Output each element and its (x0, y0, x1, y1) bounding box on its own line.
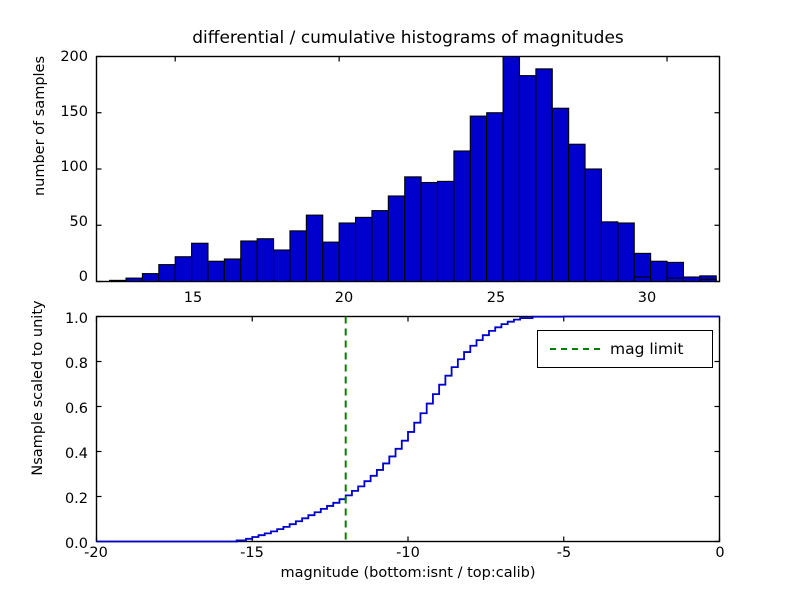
mag-limit-line-icon (550, 348, 600, 350)
histogram-bar (126, 278, 142, 281)
histogram-bar (487, 113, 503, 282)
histogram-bar (700, 279, 716, 281)
histogram-bar (618, 223, 634, 282)
histogram-bar (585, 169, 601, 282)
histogram-bar (388, 196, 404, 282)
histogram-bar (290, 231, 306, 282)
histogram-bar (421, 183, 437, 282)
histogram-bar (339, 223, 355, 282)
histogram-bar (405, 177, 421, 282)
legend-entry-mag-limit: mag limit (610, 340, 683, 358)
histogram-bar (683, 277, 699, 282)
histogram-bar (519, 76, 535, 282)
histogram-bar (503, 57, 519, 282)
histogram-bar (175, 257, 191, 282)
histogram-bar (372, 211, 388, 282)
histogram-bar (601, 222, 617, 282)
histogram-bar (208, 261, 224, 281)
histogram-bar (306, 215, 322, 281)
histogram-bar (159, 265, 175, 282)
histogram-bar (438, 181, 454, 281)
histogram-bar (569, 144, 585, 281)
histogram-bar (634, 277, 650, 282)
histogram-bar (192, 243, 208, 281)
histogram-bar (454, 151, 470, 282)
histogram-bar (356, 217, 372, 281)
histogram-bar (536, 69, 552, 282)
histogram-bar (667, 278, 683, 281)
histogram-bars (110, 57, 717, 282)
histogram-bar (274, 250, 290, 282)
histogram-bar (224, 259, 240, 282)
legend: mag limit (537, 330, 713, 368)
plot-canvas (0, 0, 800, 600)
histogram-bar (257, 239, 273, 282)
histogram-bar (552, 108, 568, 281)
histogram-bar (470, 116, 486, 281)
histogram-bar (651, 261, 667, 281)
histogram-bar (323, 242, 339, 281)
matplotlib-figure: differential / cumulative histograms of … (0, 0, 800, 600)
histogram-bar (142, 274, 158, 282)
histogram-bar (241, 241, 257, 282)
histogram-bar (110, 280, 126, 281)
